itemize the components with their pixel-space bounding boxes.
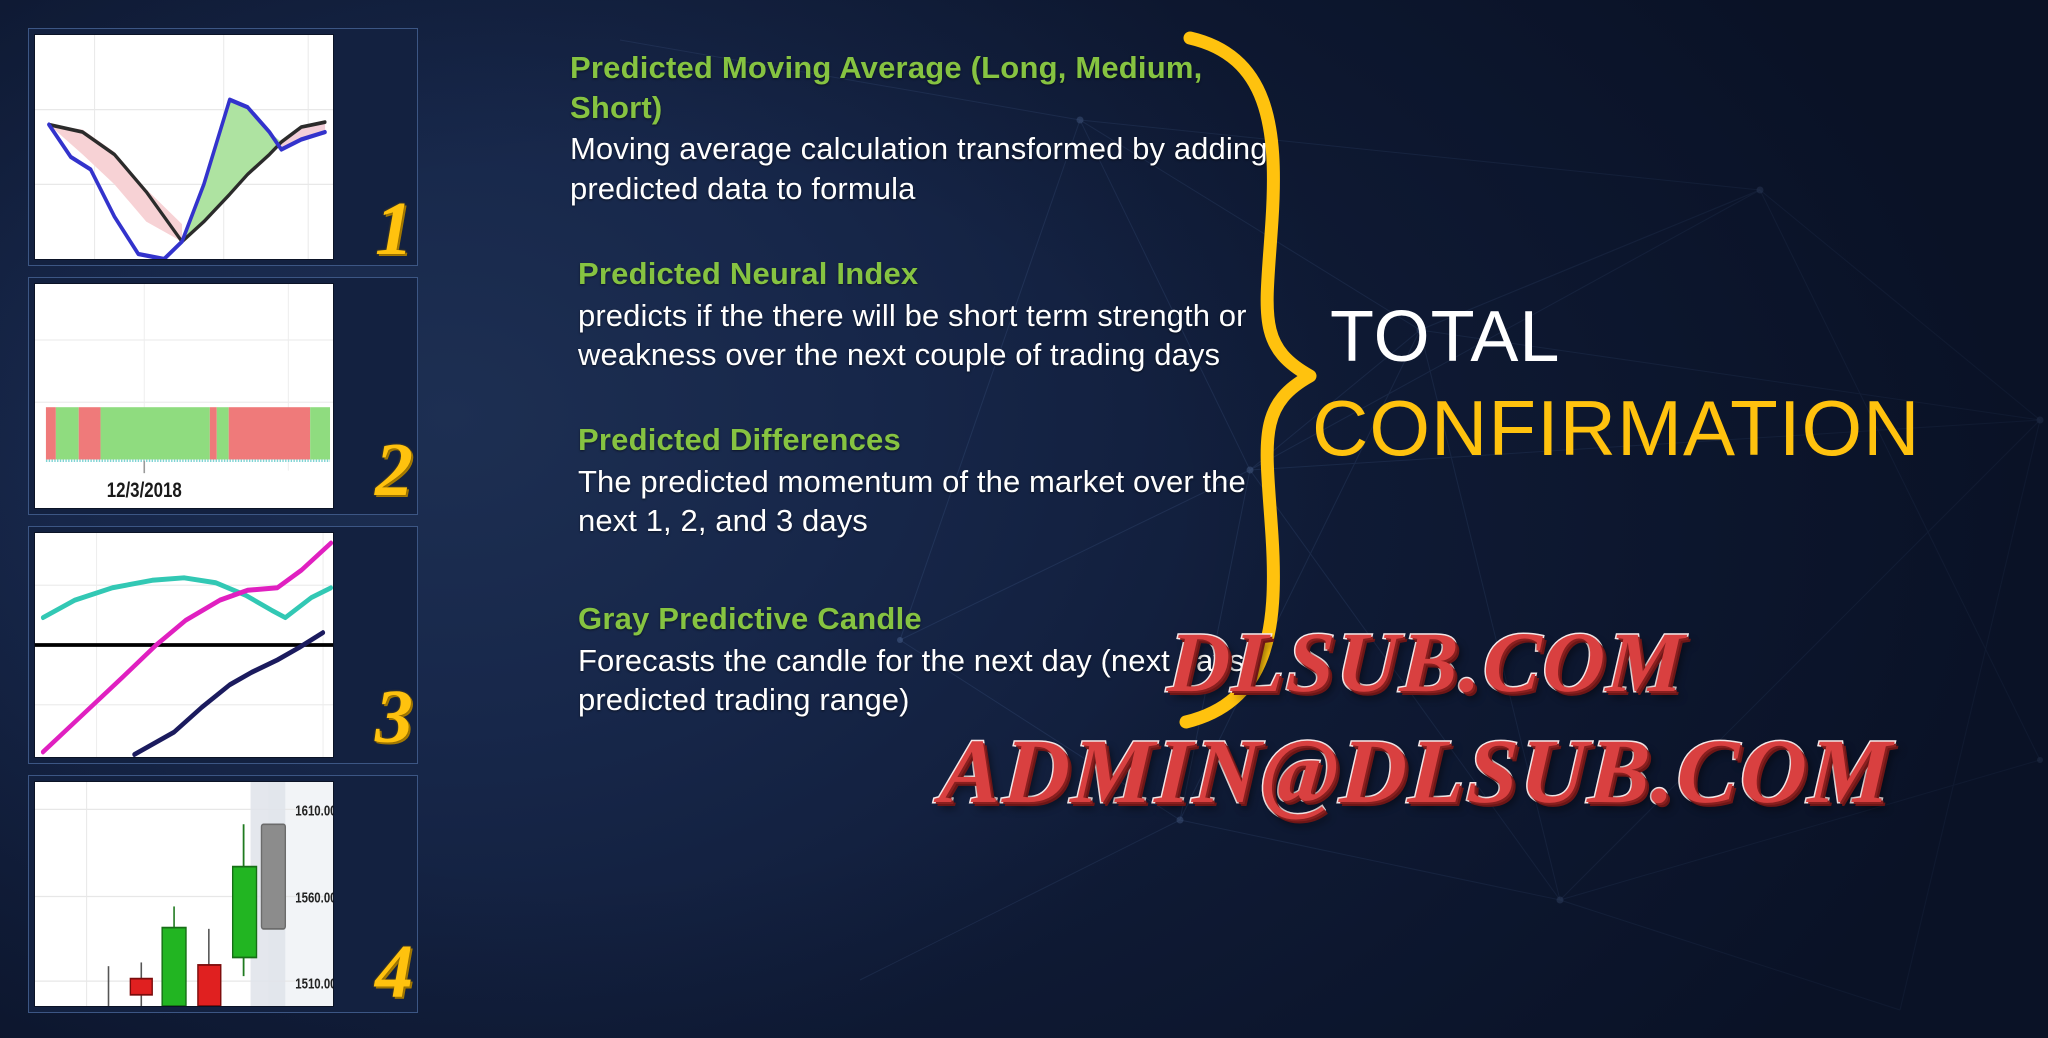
callout-line-confirmation: CONFIRMATION [1312, 384, 2030, 474]
gray-predictive-candle [261, 824, 285, 929]
feature-marker-1: 1 [375, 191, 411, 267]
y-tick-label-1: 1560.00 [295, 889, 333, 906]
y-tick-label-2: 1510.00 [295, 975, 333, 992]
chart-card-predicted-neural-index[interactable]: 12/3/2018 2 [28, 277, 418, 515]
callout-line-total: TOTAL [1330, 300, 2030, 376]
chart-plot-area-3 [34, 532, 334, 758]
chart-card-gray-predictive-candle[interactable]: 1610.00 1560.00 1510.00 4 [28, 775, 418, 1013]
chart-card-predicted-differences[interactable]: 3 [28, 526, 418, 764]
feature-description-column: Predicted Moving Average (Long, Medium, … [570, 48, 1270, 743]
feature-marker-2: 2 [375, 432, 411, 508]
bar-chart-neural-index: 12/3/2018 [35, 284, 333, 508]
chart-plot-area-4: 1610.00 1560.00 1510.00 [34, 781, 334, 1007]
chart-card-predicted-moving-average[interactable]: 1 [28, 28, 418, 266]
chart-plot-area-1 [34, 34, 334, 260]
watermark-site: DLSUB.COM [1165, 612, 1688, 712]
feature-block-3: Predicted Differences The predicted mome… [570, 420, 1270, 540]
chart-thumbnail-column: 1 [28, 28, 418, 1013]
axis-date-label: 12/3/2018 [107, 479, 182, 502]
feature-title-4: Gray Predictive Candle [570, 599, 1270, 639]
feature-title-3: Predicted Differences [570, 420, 1270, 460]
candlestick-chart: 1610.00 1560.00 1510.00 [35, 782, 333, 1006]
watermark-email: ADMIN@DLSUB.COM [937, 718, 1895, 824]
feature-title-1: Predicted Moving Average (Long, Medium, … [570, 48, 1270, 127]
chart-plot-area-2: 12/3/2018 [34, 283, 334, 509]
feature-block-2: Predicted Neural Index predicts if the t… [570, 254, 1270, 374]
line-chart-moving-average [35, 35, 333, 259]
feature-body-1: Moving average calculation transformed b… [570, 129, 1270, 208]
line-chart-predicted-differences [35, 533, 333, 757]
feature-block-1: Predicted Moving Average (Long, Medium, … [570, 48, 1270, 208]
feature-body-2: predicts if the there will be short term… [570, 296, 1270, 375]
feature-title-2: Predicted Neural Index [570, 254, 1270, 294]
y-tick-label-0: 1610.00 [295, 802, 333, 819]
feature-marker-4: 4 [375, 934, 411, 1010]
feature-body-3: The predicted momentum of the market ove… [570, 462, 1270, 541]
neural-index-segments [46, 407, 330, 459]
feature-marker-3: 3 [375, 679, 411, 755]
total-confirmation-callout: TOTAL CONFIRMATION [1330, 300, 2030, 473]
